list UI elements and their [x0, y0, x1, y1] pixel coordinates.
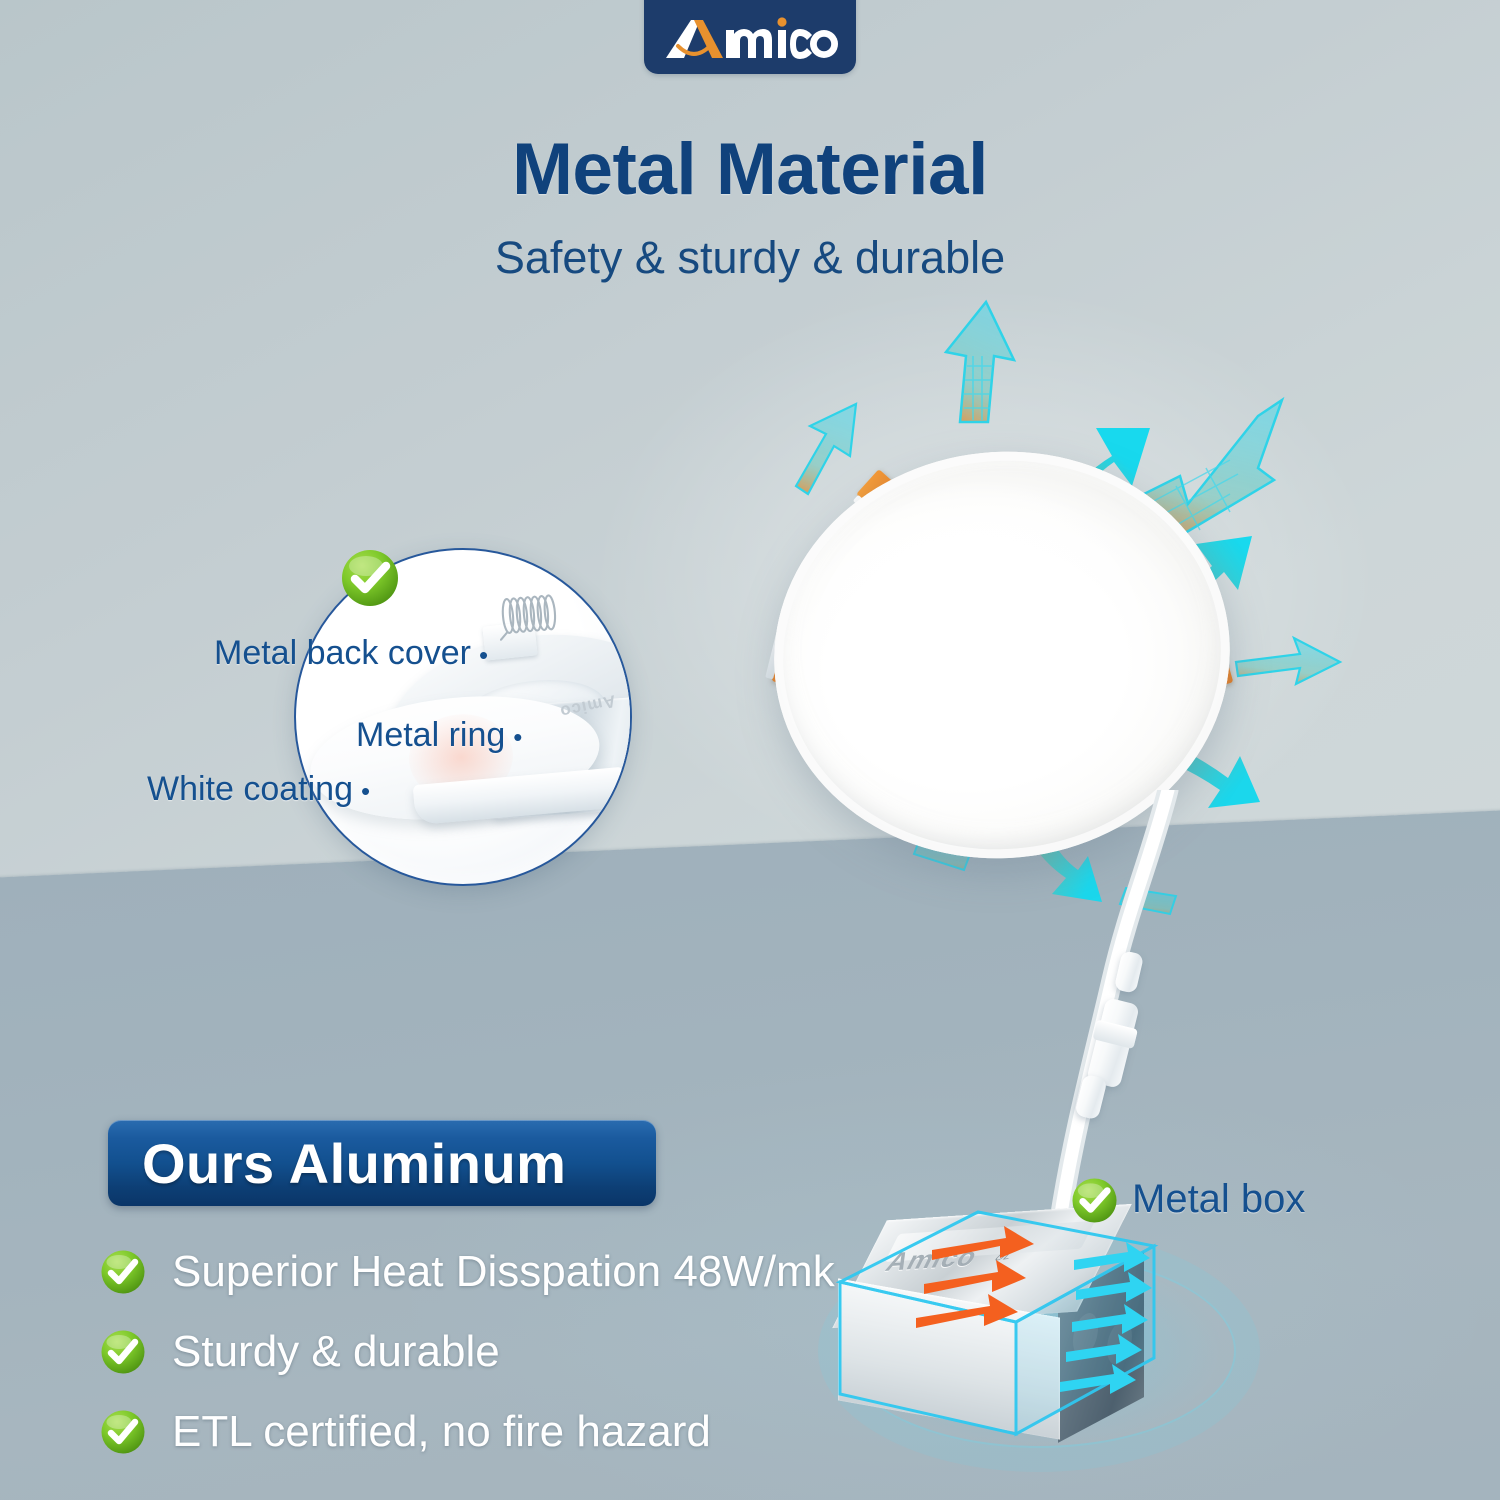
detail-label-metal-back-cover: Metal back cover• — [214, 634, 488, 673]
green-check-icon — [340, 548, 400, 608]
detail-label-text: Metal ring — [356, 716, 505, 754]
feature-text: Superior Heat Disspation 48W/mk — [146, 1247, 835, 1297]
green-check-icon — [1071, 1177, 1118, 1224]
page-subtitle: Safety & sturdy & durable — [0, 232, 1500, 284]
page-title: Metal Material — [0, 128, 1500, 211]
heat-in-arrows — [916, 1226, 1034, 1328]
green-check-icon — [100, 1249, 146, 1295]
list-item: ETL certified, no fire hazard — [100, 1392, 900, 1472]
ours-aluminum-badge: Ours Aluminum — [108, 1120, 656, 1206]
infographic-canvas: Metal Material Safety & sturdy & durable — [0, 0, 1500, 1500]
feature-list: Superior Heat Disspation 48W/mk Sturdy &… — [100, 1232, 900, 1472]
bullet-dot: • — [505, 722, 522, 752]
detail-label-metal-ring: Metal ring• — [356, 716, 522, 755]
green-check-icon — [100, 1409, 146, 1455]
ours-aluminum-badge-label: Ours Aluminum — [108, 1131, 566, 1196]
metal-box-label: Metal box — [1132, 1177, 1305, 1222]
green-check-icon — [100, 1329, 146, 1375]
detail-label-white-coating: White coating• — [147, 770, 370, 809]
feature-text: ETL certified, no fire hazard — [146, 1407, 711, 1457]
bullet-dot: • — [353, 776, 370, 806]
amico-logo-icon — [662, 12, 838, 62]
brand-logo-box — [644, 0, 856, 74]
detail-label-text: White coating — [147, 770, 353, 808]
list-item: Superior Heat Disspation 48W/mk — [100, 1232, 900, 1312]
detail-label-text: Metal back cover — [214, 634, 471, 672]
feature-text: Sturdy & durable — [146, 1327, 500, 1377]
torsion-spring-icon — [496, 589, 566, 641]
amico-logo — [644, 0, 856, 74]
list-item: Sturdy & durable — [100, 1312, 900, 1392]
bullet-dot: • — [471, 640, 488, 670]
